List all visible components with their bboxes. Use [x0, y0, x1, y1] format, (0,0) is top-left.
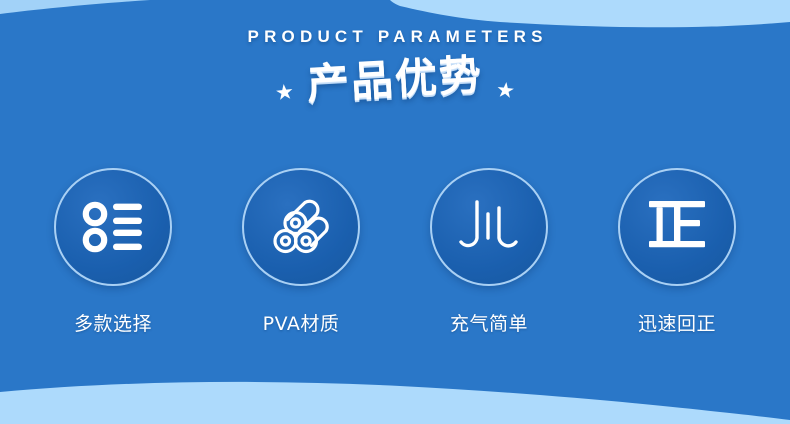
feature-icon-circle: [430, 168, 548, 286]
page-title: 产品优势: [306, 50, 485, 110]
product-parameters-banner: PRODUCT PARAMETERS 产品优势 多款选择: [0, 0, 790, 424]
feature-icon-circle: [54, 168, 172, 286]
material-rolls-icon: [269, 197, 333, 257]
banner-header: PRODUCT PARAMETERS 产品优势: [0, 26, 790, 105]
feature-list: 多款选择: [33, 168, 757, 336]
feature-label: PVA材质: [263, 309, 340, 336]
title-row: 产品优势: [0, 55, 790, 105]
star-icon-right: [496, 81, 515, 100]
feature-label: 多款选择: [74, 309, 152, 336]
feature-icon-circle: [618, 168, 736, 286]
feature-item-quick-rebound[interactable]: 迅速回正: [597, 168, 757, 336]
feature-item-easy-inflation[interactable]: 充气简单: [409, 168, 569, 336]
eyebrow-text: PRODUCT PARAMETERS: [0, 26, 790, 48]
feature-label: 充气简单: [450, 309, 528, 336]
feature-item-pva-material[interactable]: PVA材质: [221, 168, 381, 336]
zheng-character-icon: [646, 198, 708, 256]
wave-bottom: [0, 382, 790, 424]
wave-top-right: [390, 0, 790, 27]
wave-top-left: [0, 0, 150, 14]
feature-item-multiple-options[interactable]: 多款选择: [33, 168, 193, 336]
star-icon-left: [275, 83, 294, 102]
air-strokes-icon: [457, 198, 521, 256]
list-options-icon: [82, 201, 144, 253]
feature-icon-circle: [242, 168, 360, 286]
feature-label: 迅速回正: [638, 309, 716, 336]
